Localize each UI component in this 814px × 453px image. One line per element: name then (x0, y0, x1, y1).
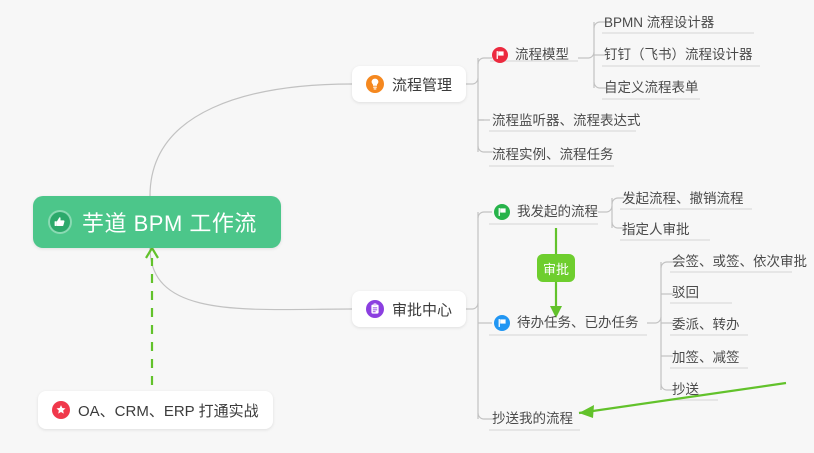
node-label-add-remove-sign: 加签、减签 (672, 347, 740, 369)
node-todo-done-tasks[interactable]: 待办任务、已办任务 (494, 312, 639, 334)
mindmap-canvas: 芋道 BPM 工作流 流程管理 流程模型 BPMN 流程设计器 钉钉（飞书 (0, 0, 814, 453)
node-label-assignee-approval: 指定人审批 (622, 219, 690, 241)
node-bpmn-designer[interactable]: BPMN 流程设计器 (604, 12, 714, 34)
root-label: 芋道 BPM 工作流 (82, 206, 257, 238)
node-label-dingtalk-designer: 钉钉（飞书）流程设计器 (604, 44, 753, 66)
node-cc-to-me[interactable]: 抄送我的流程 (492, 408, 573, 430)
node-label-todo-done-tasks: 待办任务、已办任务 (517, 312, 639, 334)
approval-flow-badge: 审批 (537, 254, 575, 282)
star-icon (52, 401, 70, 419)
branch-node-approval-center[interactable]: 审批中心 (352, 291, 466, 327)
node-process-instance[interactable]: 流程实例、流程任务 (492, 144, 614, 166)
node-label-delegate-transfer: 委派、转办 (672, 314, 740, 336)
bottom-left-node-label: OA、CRM、ERP 打通实战 (78, 400, 259, 421)
node-label-process-model: 流程模型 (515, 44, 569, 66)
clipboard-icon (366, 300, 384, 318)
node-label-bpmn-designer: BPMN 流程设计器 (604, 12, 714, 34)
bottom-left-node[interactable]: OA、CRM、ERP 打通实战 (38, 391, 273, 429)
node-carbon-copy[interactable]: 抄送 (672, 379, 699, 401)
branch-node-process-management[interactable]: 流程管理 (352, 66, 466, 102)
flag-icon (494, 315, 510, 331)
node-assignee-approval[interactable]: 指定人审批 (622, 219, 690, 241)
approval-flow-badge-label: 审批 (543, 259, 569, 278)
node-label-my-initiated: 我发起的流程 (517, 201, 598, 223)
node-label-reject: 驳回 (672, 282, 699, 304)
node-countersign[interactable]: 会签、或签、依次审批 (672, 251, 807, 273)
node-delegate-transfer[interactable]: 委派、转办 (672, 314, 740, 336)
node-process-model[interactable]: 流程模型 (492, 44, 569, 66)
root-node[interactable]: 芋道 BPM 工作流 (33, 196, 281, 248)
annotation-arrow-bottom (146, 248, 158, 385)
branch-label-process-management: 流程管理 (392, 74, 452, 95)
node-dingtalk-designer[interactable]: 钉钉（飞书）流程设计器 (604, 44, 753, 66)
node-my-initiated[interactable]: 我发起的流程 (494, 201, 598, 223)
node-label-carbon-copy: 抄送 (672, 379, 699, 401)
flag-icon (492, 47, 508, 63)
node-start-cancel-process[interactable]: 发起流程、撤销流程 (622, 188, 744, 210)
lightbulb-icon (366, 75, 384, 93)
node-label-countersign: 会签、或签、依次审批 (672, 251, 807, 273)
thumbs-up-icon (47, 209, 73, 235)
node-reject[interactable]: 驳回 (672, 282, 699, 304)
flag-icon (494, 204, 510, 220)
node-custom-form[interactable]: 自定义流程表单 (604, 77, 699, 99)
node-process-listener[interactable]: 流程监听器、流程表达式 (492, 110, 641, 132)
branch-label-approval-center: 审批中心 (392, 299, 452, 320)
node-add-remove-sign[interactable]: 加签、减签 (672, 347, 740, 369)
node-label-start-cancel-process: 发起流程、撤销流程 (622, 188, 744, 210)
node-label-custom-form: 自定义流程表单 (604, 77, 699, 99)
node-label-process-listener: 流程监听器、流程表达式 (492, 110, 641, 132)
node-label-process-instance: 流程实例、流程任务 (492, 144, 614, 166)
node-label-cc-to-me: 抄送我的流程 (492, 408, 573, 430)
